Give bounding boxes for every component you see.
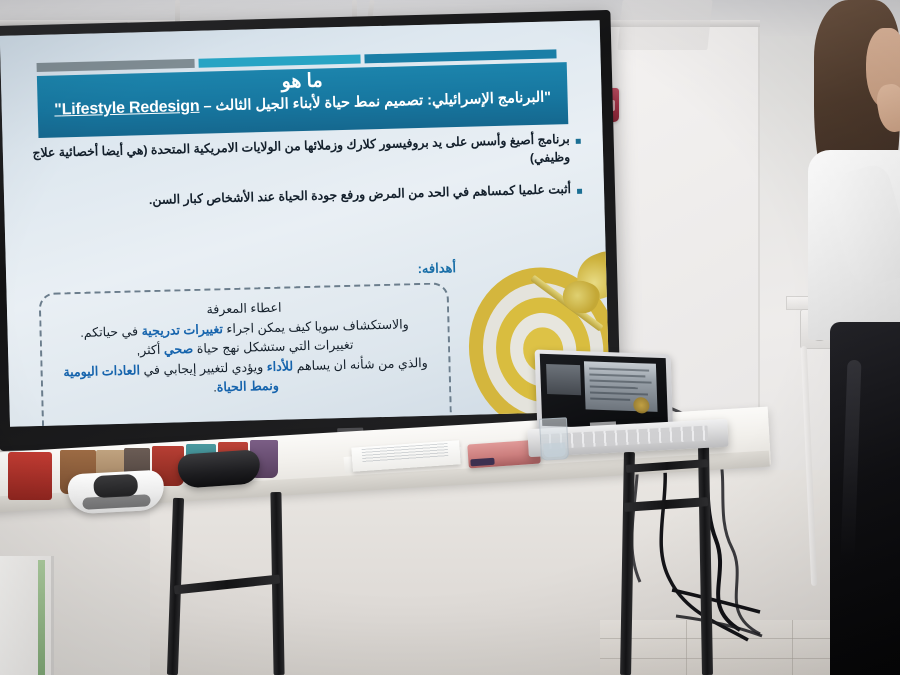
list-item: برنامج أصيغ وأسس على يد بروفيسور كلارك و…: [21, 131, 582, 182]
goals-text: والذي من شأنه ان يساهم: [293, 355, 428, 373]
presentation-room-scene: ما هو "البرنامج الإسرائيلي: تصميم نمط حي…: [0, 0, 900, 675]
slide-title-band: ما هو "البرنامج الإسرائيلي: تصميم نمط حي…: [37, 62, 568, 138]
whiteboard-marker-tray: [617, 0, 712, 50]
goals-text: ويؤدي لتغيير إيجابي في: [140, 360, 267, 377]
bullet-text: أثبت علميا كمساهم في الحد من المرض ورفع …: [22, 181, 571, 213]
goals-text: تغييرات التي ستشكل نهج حياة: [193, 338, 353, 356]
document-seal-icon: [633, 397, 650, 414]
goals-text: اعطاء المعرفة: [206, 301, 281, 317]
goals-highlight-text: للأداء: [267, 359, 294, 374]
door-frame: [0, 556, 54, 675]
goals-highlight-text: صحي: [164, 342, 194, 357]
presentation-slide: ما هو "البرنامج الإسرائيلي: تصميم نمط حي…: [0, 20, 610, 427]
colored-cup: [8, 452, 52, 500]
slide-bullet-list: برنامج أصيغ وأسس على يد بروفيسور كلارك و…: [21, 131, 583, 228]
white-game-controller: [67, 470, 165, 515]
goals-dashed-box: اعطاء المعرفةوالاستكشاف سويا كيف يمكن اج…: [39, 282, 453, 427]
presenter: [800, 0, 900, 675]
topbar-segment-3: [37, 59, 196, 72]
presenter-black-skirt: [830, 322, 900, 675]
screen-panel-left: [546, 364, 581, 395]
goals-label: أهدافه:: [417, 260, 456, 277]
topbar-segment-1: [364, 49, 557, 63]
slide-title-english: Lifestyle Redesign": [54, 98, 200, 119]
bullet-square-icon: [577, 189, 582, 194]
goals-highlight-text: تغييرات تدريجية: [141, 322, 223, 338]
goals-text: والاستكشاف سويا كيف يمكن اجراء: [223, 317, 409, 336]
goals-text: أكثر,: [137, 343, 165, 358]
tv-screen: ما هو "البرنامج الإسرائيلي: تصميم نمط حي…: [0, 20, 610, 427]
bullet-text: برنامج أصيغ وأسس على يد بروفيسور كلارك و…: [21, 131, 571, 181]
plastic-cup: [539, 417, 569, 460]
list-item: أثبت علميا كمساهم في الحد من المرض ورفع …: [22, 181, 582, 214]
topbar-segment-2: [199, 54, 360, 67]
door-green-strip: [38, 560, 45, 675]
goals-text: في حياتكم.: [80, 324, 142, 340]
goals-line: والذي من شأنه ان يساهم للأداء ويؤدي لتغي…: [60, 353, 431, 402]
bullet-square-icon: [576, 139, 581, 144]
